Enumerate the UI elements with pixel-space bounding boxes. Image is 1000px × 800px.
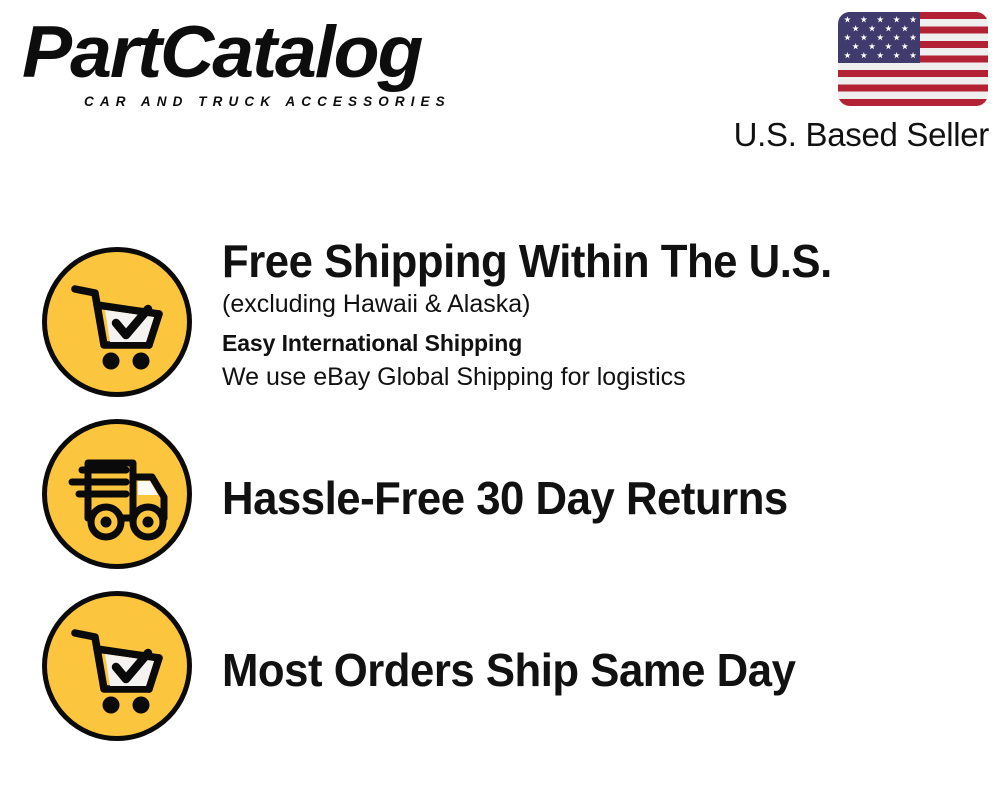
feature-text-block: Free Shipping Within The U.S. (excluding…: [222, 235, 982, 394]
feature-title: Hassle-Free 30 Day Returns: [222, 472, 944, 524]
feature-badge: [42, 247, 192, 397]
brand-tagline: CAR AND TRUCK ACCESSORIES: [84, 94, 451, 109]
us-based-seller-label: U.S. Based Seller: [727, 116, 989, 154]
feature-badge: [42, 591, 192, 741]
feature-sub-detail: We use eBay Global Shipping for logistic…: [222, 360, 982, 394]
flag-stars-icon: [838, 12, 988, 106]
feature-title: Most Orders Ship Same Day: [222, 644, 944, 696]
page-header: PartCatalog CAR AND TRUCK ACCESSORIES U.…: [0, 0, 1000, 175]
feature-subtitle: (excluding Hawaii & Alaska): [222, 287, 982, 321]
brand-logo[interactable]: PartCatalog CAR AND TRUCK ACCESSORIES: [22, 14, 492, 114]
delivery-truck-icon: [42, 419, 192, 569]
feature-badge: [42, 419, 192, 569]
feature-text-block: Hassle-Free 30 Day Returns: [222, 419, 982, 524]
shopping-cart-check-icon: [42, 591, 192, 741]
feature-title: Free Shipping Within The U.S.: [222, 235, 944, 287]
feature-sub-heading: Easy International Shipping: [222, 327, 982, 360]
shopping-cart-check-icon: [42, 247, 192, 397]
feature-text-block: Most Orders Ship Same Day: [222, 591, 982, 696]
us-flag-icon: [838, 12, 988, 106]
brand-wordmark: PartCatalog: [22, 14, 421, 92]
